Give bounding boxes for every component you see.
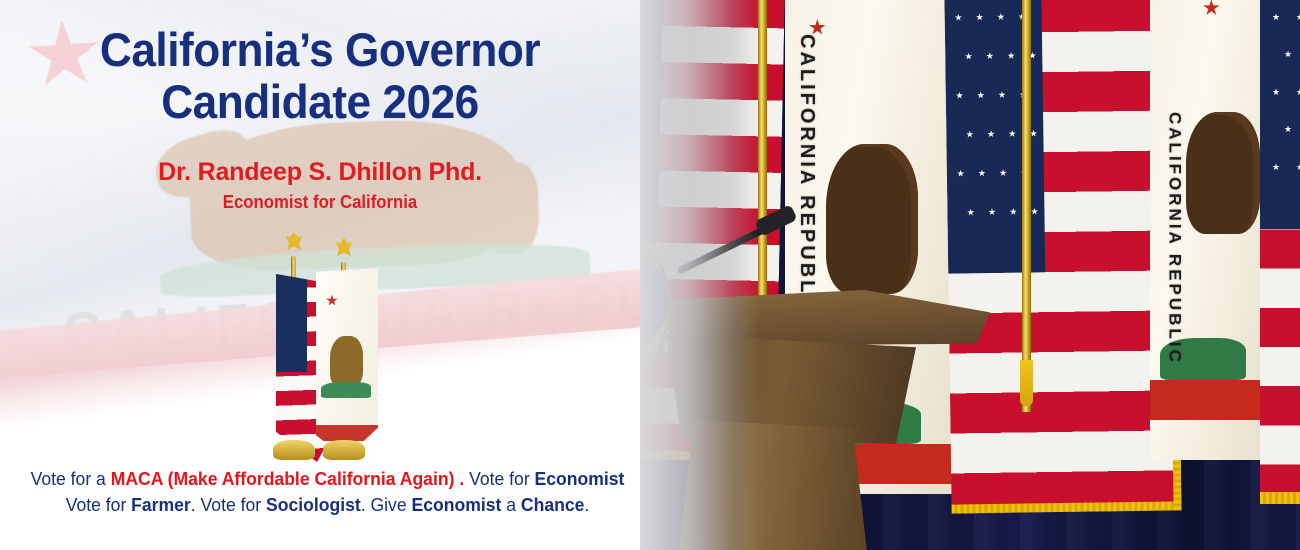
slogan-l2-p3: . Give: [361, 494, 412, 515]
slogan-l2-end: .: [584, 494, 589, 515]
campaign-banner: ★★ ★★ ★★ ★★ ★★ ★★ ★★ ★★ ★★ ★★ ★★ ★★ ★★ ★…: [0, 0, 1300, 550]
slogan-line-2: Vote for Farmer. Vote for Sociologist. G…: [16, 492, 638, 518]
ca-flag-vertical-text-2: CALIFORNIA REPUBLIC: [1164, 112, 1184, 365]
slogan-l2-p4: a: [501, 494, 521, 515]
podium-photo: ★★ ★★ ★★ ★★ ★★ ★★ ★★ ★★ ★★ ★★ ★★ ★★ ★★ ★…: [560, 0, 1300, 550]
desk-california-flag: [316, 268, 378, 458]
page-title: California’s Governor Candidate 2026: [19, 24, 621, 128]
candidate-name: Dr. Randeep S. Dhillon Phd.: [0, 158, 640, 187]
slogan-farmer: Farmer: [131, 494, 191, 515]
ca-flag-vertical-text: CALIFORNIA REPUBLIC: [795, 34, 818, 321]
california-flag-photo-2: CALIFORNIA REPUBLIC: [1150, 0, 1270, 460]
flag-tassel: [1020, 360, 1033, 406]
flag-pole-center: [1022, 0, 1031, 412]
slogan-l1-p2: Vote for: [464, 468, 534, 489]
slogan-sociologist: Sociologist: [266, 494, 361, 515]
desk-flag-pair: [262, 232, 382, 460]
campaign-slogan: Vote for a MACA (Make Affordable Califor…: [16, 466, 638, 518]
candidate-subtitle: Economist for California: [22, 192, 617, 213]
slogan-economist-1: Economist: [535, 468, 625, 489]
slogan-l1-p1: Vote for a: [31, 468, 111, 489]
slogan-l2-p2: . Vote for: [191, 494, 266, 515]
us-flag-photo-right: ★★ ★★ ★★ ★★ ★★ ★★ ★★ ★★ ★★ ★★ ★★ ★★: [944, 0, 1181, 514]
eagle-finial-icon-2: [335, 238, 353, 264]
us-flag-photo-far-right: ★★ ★★ ★★ ★★ ★★ ★★ ★★ ★★ ★★ ★★: [1260, 0, 1300, 504]
desk-flag-base-us: [273, 440, 315, 460]
eagle-finial-icon: [285, 232, 303, 258]
slogan-l2-p1: Vote for: [66, 494, 131, 515]
headline-line-1: California’s Governor: [100, 23, 540, 76]
slogan-l1-dot: .: [454, 468, 464, 489]
slogan-economist-2: Economist: [412, 494, 502, 515]
slogan-line-1: Vote for a MACA (Make Affordable Califor…: [16, 466, 638, 492]
headline-line-2: Candidate 2026: [19, 76, 621, 128]
slogan-maca: MACA (Make Affordable California Again): [111, 468, 455, 489]
desk-flag-base-ca: [323, 440, 365, 460]
podium-column: [678, 420, 868, 550]
slogan-chance: Chance: [521, 494, 584, 515]
